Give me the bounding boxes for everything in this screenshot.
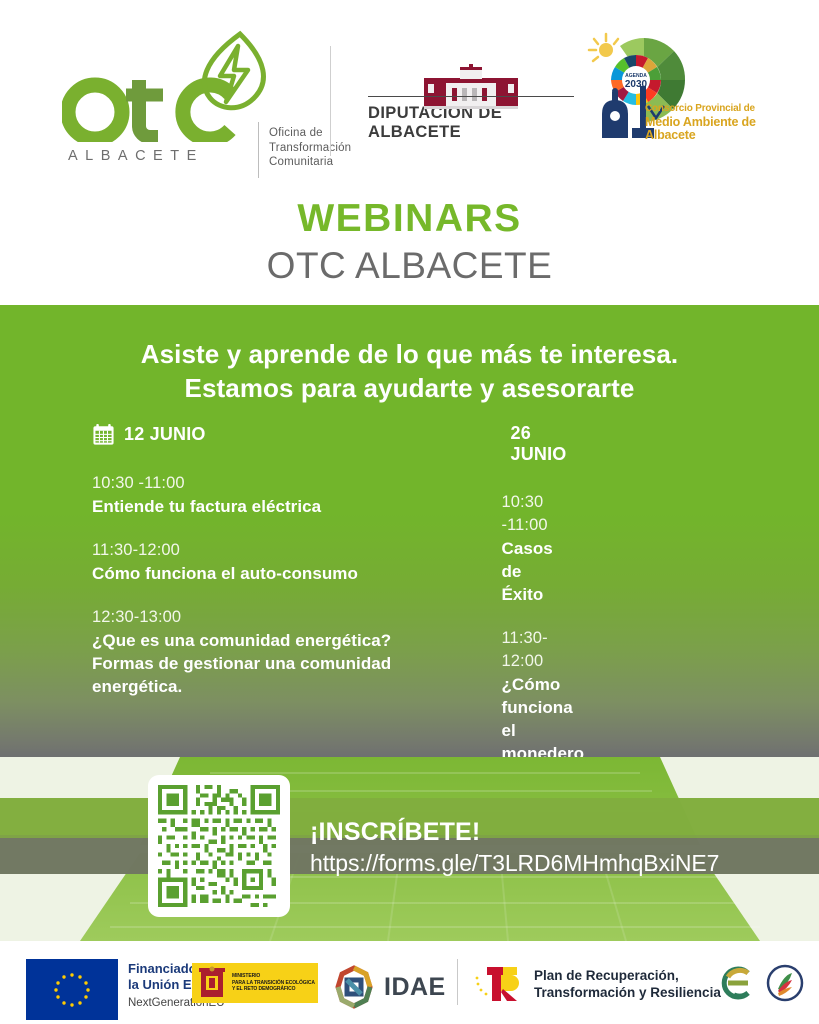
headline-line-2: Estamos para ayudarte y asesorarte bbox=[0, 371, 819, 405]
session-time: 11:30-12:00 bbox=[502, 627, 545, 673]
inscribete-heading: ¡INSCRÍBETE! bbox=[310, 817, 719, 847]
consorcio-name: Consorcio Provincial de Medio Ambiente d… bbox=[645, 104, 774, 141]
qr-code-icon[interactable] bbox=[158, 785, 280, 907]
consorcio-line-1: Consorcio Provincial de bbox=[645, 104, 774, 114]
title-otc-albacete: OTC ALBACETE bbox=[0, 244, 819, 288]
diputacion-building-icon bbox=[422, 64, 520, 110]
eco-e-icon bbox=[718, 963, 762, 1003]
qr-code-card[interactable] bbox=[148, 775, 290, 917]
otc-tagline-line-2: Transformación bbox=[269, 141, 351, 156]
ministerio-text: MINISTERIO PARA LA TRANSICIÓN ECOLÓGICA … bbox=[232, 973, 315, 993]
otc-logo-tagline: Oficina de Transformación Comunitaria bbox=[269, 126, 351, 170]
leaf-bolt-icon bbox=[196, 30, 271, 116]
otc-logo: ALBACETE Oficina de Transformación Comun… bbox=[62, 30, 302, 148]
prtr-mark-icon bbox=[473, 962, 525, 1006]
idae-label: IDAE bbox=[384, 973, 446, 1002]
diputacion-rule bbox=[368, 96, 574, 97]
consorcio-line-2: Medio Ambiente de Albacete bbox=[645, 116, 774, 141]
header-divider bbox=[330, 46, 331, 156]
session-title: Casos de Éxito bbox=[502, 537, 545, 606]
idae-mark-icon bbox=[332, 965, 376, 1009]
prtr-line-1: Plan de Recuperación, bbox=[534, 967, 721, 984]
spain-coat-of-arms-icon bbox=[197, 966, 227, 1000]
diputacion-logo: DIPUTACIÓN DE ALBACETE bbox=[368, 64, 574, 142]
title-webinars: WEBINARS bbox=[0, 196, 819, 242]
prtr-logo: Plan de Recuperación, Transformación y R… bbox=[473, 962, 721, 1006]
ministerio-line-3: Y EL RETO DEMOGRÁFICO bbox=[232, 986, 315, 993]
poster-root: ALBACETE Oficina de Transformación Comun… bbox=[0, 0, 819, 1024]
page-title: WEBINARS OTC ALBACETE bbox=[0, 196, 819, 288]
registration-url[interactable]: https://forms.gle/T3LRD6MHmhqBxiNE7 bbox=[310, 848, 719, 878]
footer: Financiado por la Unión Europea NextGene… bbox=[0, 941, 819, 1024]
ministerio-logo: MINISTERIO PARA LA TRANSICIÓN ECOLÓGICA … bbox=[192, 963, 318, 1003]
otc-tagline-line-1: Oficina de bbox=[269, 126, 351, 141]
otc-logo-divider bbox=[258, 122, 259, 178]
prtr-line-2: Transformación y Resiliencia bbox=[534, 984, 721, 1001]
date-header-right: 26 JUNIO bbox=[502, 423, 545, 465]
prtr-text: Plan de Recuperación, Transformación y R… bbox=[534, 967, 721, 1001]
registration-band: ¡INSCRÍBETE! https://forms.gle/T3LRD6MHm… bbox=[0, 757, 819, 941]
eco-seal-icon bbox=[763, 963, 807, 1003]
calendar-icon bbox=[92, 423, 115, 446]
schedule-panel: Asiste y aprende de lo que más te intere… bbox=[0, 305, 819, 757]
date-label-right: 26 JUNIO bbox=[511, 423, 567, 465]
headline: Asiste y aprende de lo que más te intere… bbox=[0, 337, 819, 405]
session-item: 10:30 -11:00 Casos de Éxito bbox=[502, 491, 545, 606]
headline-line-1: Asiste y aprende de lo que más te intere… bbox=[0, 337, 819, 371]
consorcio-logo: AGENDA 2030 Consorcio Provincial de Medi… bbox=[584, 28, 774, 146]
header: ALBACETE Oficina de Transformación Comun… bbox=[0, 0, 819, 178]
footer-separator bbox=[457, 959, 458, 1005]
eco-logos bbox=[718, 963, 807, 1003]
otc-tagline-line-3: Comunitaria bbox=[269, 155, 351, 170]
otc-logo-albacete: ALBACETE bbox=[68, 148, 204, 164]
idae-logo: IDAE bbox=[332, 965, 446, 1009]
eu-flag-icon bbox=[26, 959, 118, 1020]
session-time: 10:30 -11:00 bbox=[502, 491, 545, 537]
registration-text: ¡INSCRÍBETE! https://forms.gle/T3LRD6MHm… bbox=[310, 817, 719, 878]
